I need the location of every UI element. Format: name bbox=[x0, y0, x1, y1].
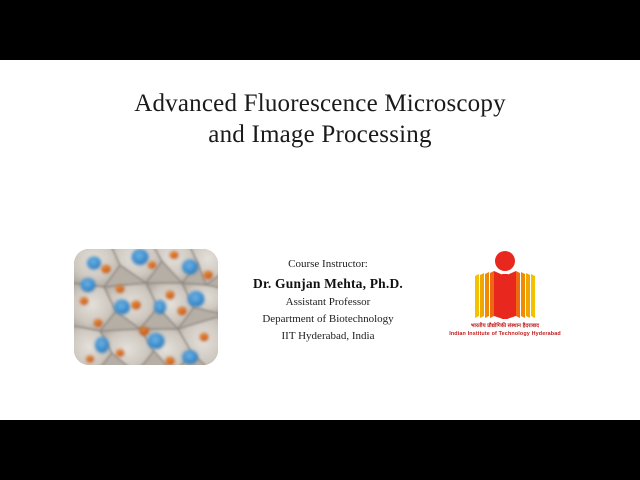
title-line-1: Advanced Fluorescence Microscopy bbox=[0, 88, 640, 119]
letterbox-bar-bottom bbox=[0, 420, 640, 480]
video-frame: Advanced Fluorescence Microscopy and Ima… bbox=[0, 0, 640, 480]
instructor-institute: IIT Hyderabad, India bbox=[228, 328, 428, 345]
instructor-name: Dr. Gunjan Mehta, Ph.D. bbox=[228, 273, 428, 294]
micrograph-thumbnail bbox=[74, 249, 218, 365]
iith-emblem-icon bbox=[455, 250, 555, 320]
letterbox-bar-top bbox=[0, 0, 640, 60]
iith-logo: भारतीय प्रौद्योगिकी संस्थान हैदराबाद Ind… bbox=[445, 250, 565, 338]
presentation-slide: Advanced Fluorescence Microscopy and Ima… bbox=[0, 60, 640, 420]
iith-caption-english: Indian Institute of Technology Hyderabad bbox=[445, 330, 565, 338]
micrograph-image bbox=[74, 249, 218, 365]
instructor-department: Department of Biotechnology bbox=[228, 311, 428, 328]
instructor-designation: Assistant Professor bbox=[228, 294, 428, 311]
page-title: Advanced Fluorescence Microscopy and Ima… bbox=[0, 88, 640, 150]
title-line-2: and Image Processing bbox=[0, 119, 640, 150]
iith-caption-hindi: भारतीय प्रौद्योगिकी संस्थान हैदराबाद bbox=[445, 323, 565, 330]
instructor-label: Course Instructor: bbox=[228, 256, 428, 273]
instructor-block: Course Instructor: Dr. Gunjan Mehta, Ph.… bbox=[228, 256, 428, 345]
